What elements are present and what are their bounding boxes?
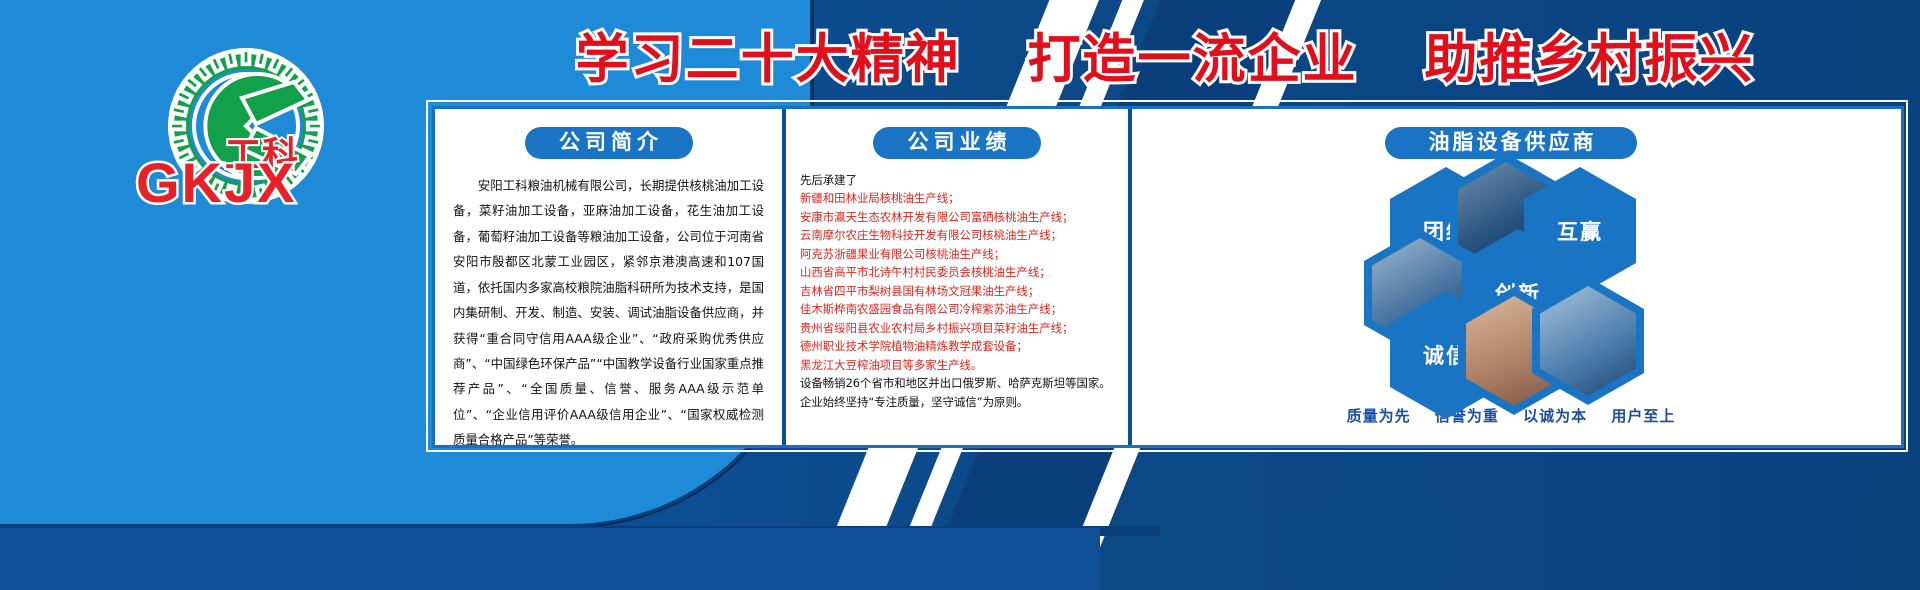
panel-title-supplier: 油脂设备供应商 bbox=[1385, 127, 1637, 159]
project-item: 新疆和田林业局核桃油生产线； bbox=[800, 189, 1128, 207]
slogan-word: 质量为先 bbox=[1347, 407, 1411, 425]
logo-latin-name: GKJX bbox=[136, 150, 297, 215]
project-item: 德州职业技术学院植物油精炼教学成套设备； bbox=[800, 337, 1128, 355]
slogan-word: 以诚为本 bbox=[1523, 407, 1587, 425]
poster-canvas: 工科 GKJX 学习二十大精神 打造一流企业 助推乡村振兴 公司简介 安阳工科粮… bbox=[0, 0, 1920, 590]
project-item: 贵州省绥阳县农业农村局乡村振兴项目菜籽油生产线； bbox=[800, 319, 1128, 337]
panel-company-intro: 公司简介 安阳工科粮油机械有限公司，长期提供核桃油加工设备，菜籽油加工设备，亚麻… bbox=[435, 109, 782, 445]
bottom-strip bbox=[0, 528, 1100, 590]
hex-cluster: 团结 互赢 bbox=[1132, 167, 1890, 399]
poster-headline: 学习二十大精神 打造一流企业 助推乡村振兴 bbox=[430, 18, 1900, 92]
performance-lead: 先后承建了 bbox=[800, 171, 1128, 189]
project-item: 云南摩尔农庄生物科技开发有限公司核桃油生产线； bbox=[800, 226, 1128, 244]
company-intro-text: 安阳工科粮油机械有限公司，长期提供核桃油加工设备，菜籽油加工设备，亚麻油加工设备… bbox=[453, 173, 764, 453]
performance-footer-1: 设备畅销26个省市和地区并出口俄罗斯、哈萨克斯坦等国家。 bbox=[800, 374, 1128, 392]
project-item: 安康市瀛天生态农林开发有限公司富硒核桃油生产线； bbox=[800, 208, 1128, 226]
project-item: 吉林省四平市梨树县国有林场文冠果油生产线； bbox=[800, 282, 1128, 300]
performance-list: 先后承建了 新疆和田林业局核桃油生产线； 安康市瀛天生态农林开发有限公司富硒核桃… bbox=[800, 171, 1128, 411]
panel-title-company-intro: 公司简介 bbox=[525, 127, 693, 159]
performance-footer-2: 企业始终坚持“专注质量，坚守诚信”为原则。 bbox=[800, 393, 1128, 411]
slogan-word: 用户至上 bbox=[1611, 407, 1675, 425]
hex-label: 互赢 bbox=[1557, 216, 1603, 246]
content-board: 公司简介 安阳工科粮油机械有限公司，长期提供核桃油加工设备，菜籽油加工设备，亚麻… bbox=[432, 106, 1904, 448]
panel-supplier: 油脂设备供应商 团结 bbox=[1132, 109, 1890, 445]
panel-company-performance: 公司业绩 先后承建了 新疆和田林业局核桃油生产线； 安康市瀛天生态农林开发有限公… bbox=[786, 109, 1128, 445]
panel-title-company-performance: 公司业绩 bbox=[873, 127, 1041, 159]
project-item: 阿克苏浙疆果业有限公司核桃油生产线； bbox=[800, 245, 1128, 263]
project-item: 佳木斯桦南农盛园食品有限公司冷榨紫苏油生产线； bbox=[800, 300, 1128, 318]
headline-part-2: 打造一流企业 bbox=[1028, 29, 1358, 90]
headline-part-3: 助推乡村振兴 bbox=[1424, 29, 1754, 90]
project-item: 黑龙江大豆榨油项目等多家生产线。 bbox=[800, 356, 1128, 374]
headline-part-1: 学习二十大精神 bbox=[576, 29, 961, 90]
project-item: 山西省高平市北诗午村村民委员会核桃油生产线； bbox=[800, 263, 1128, 281]
